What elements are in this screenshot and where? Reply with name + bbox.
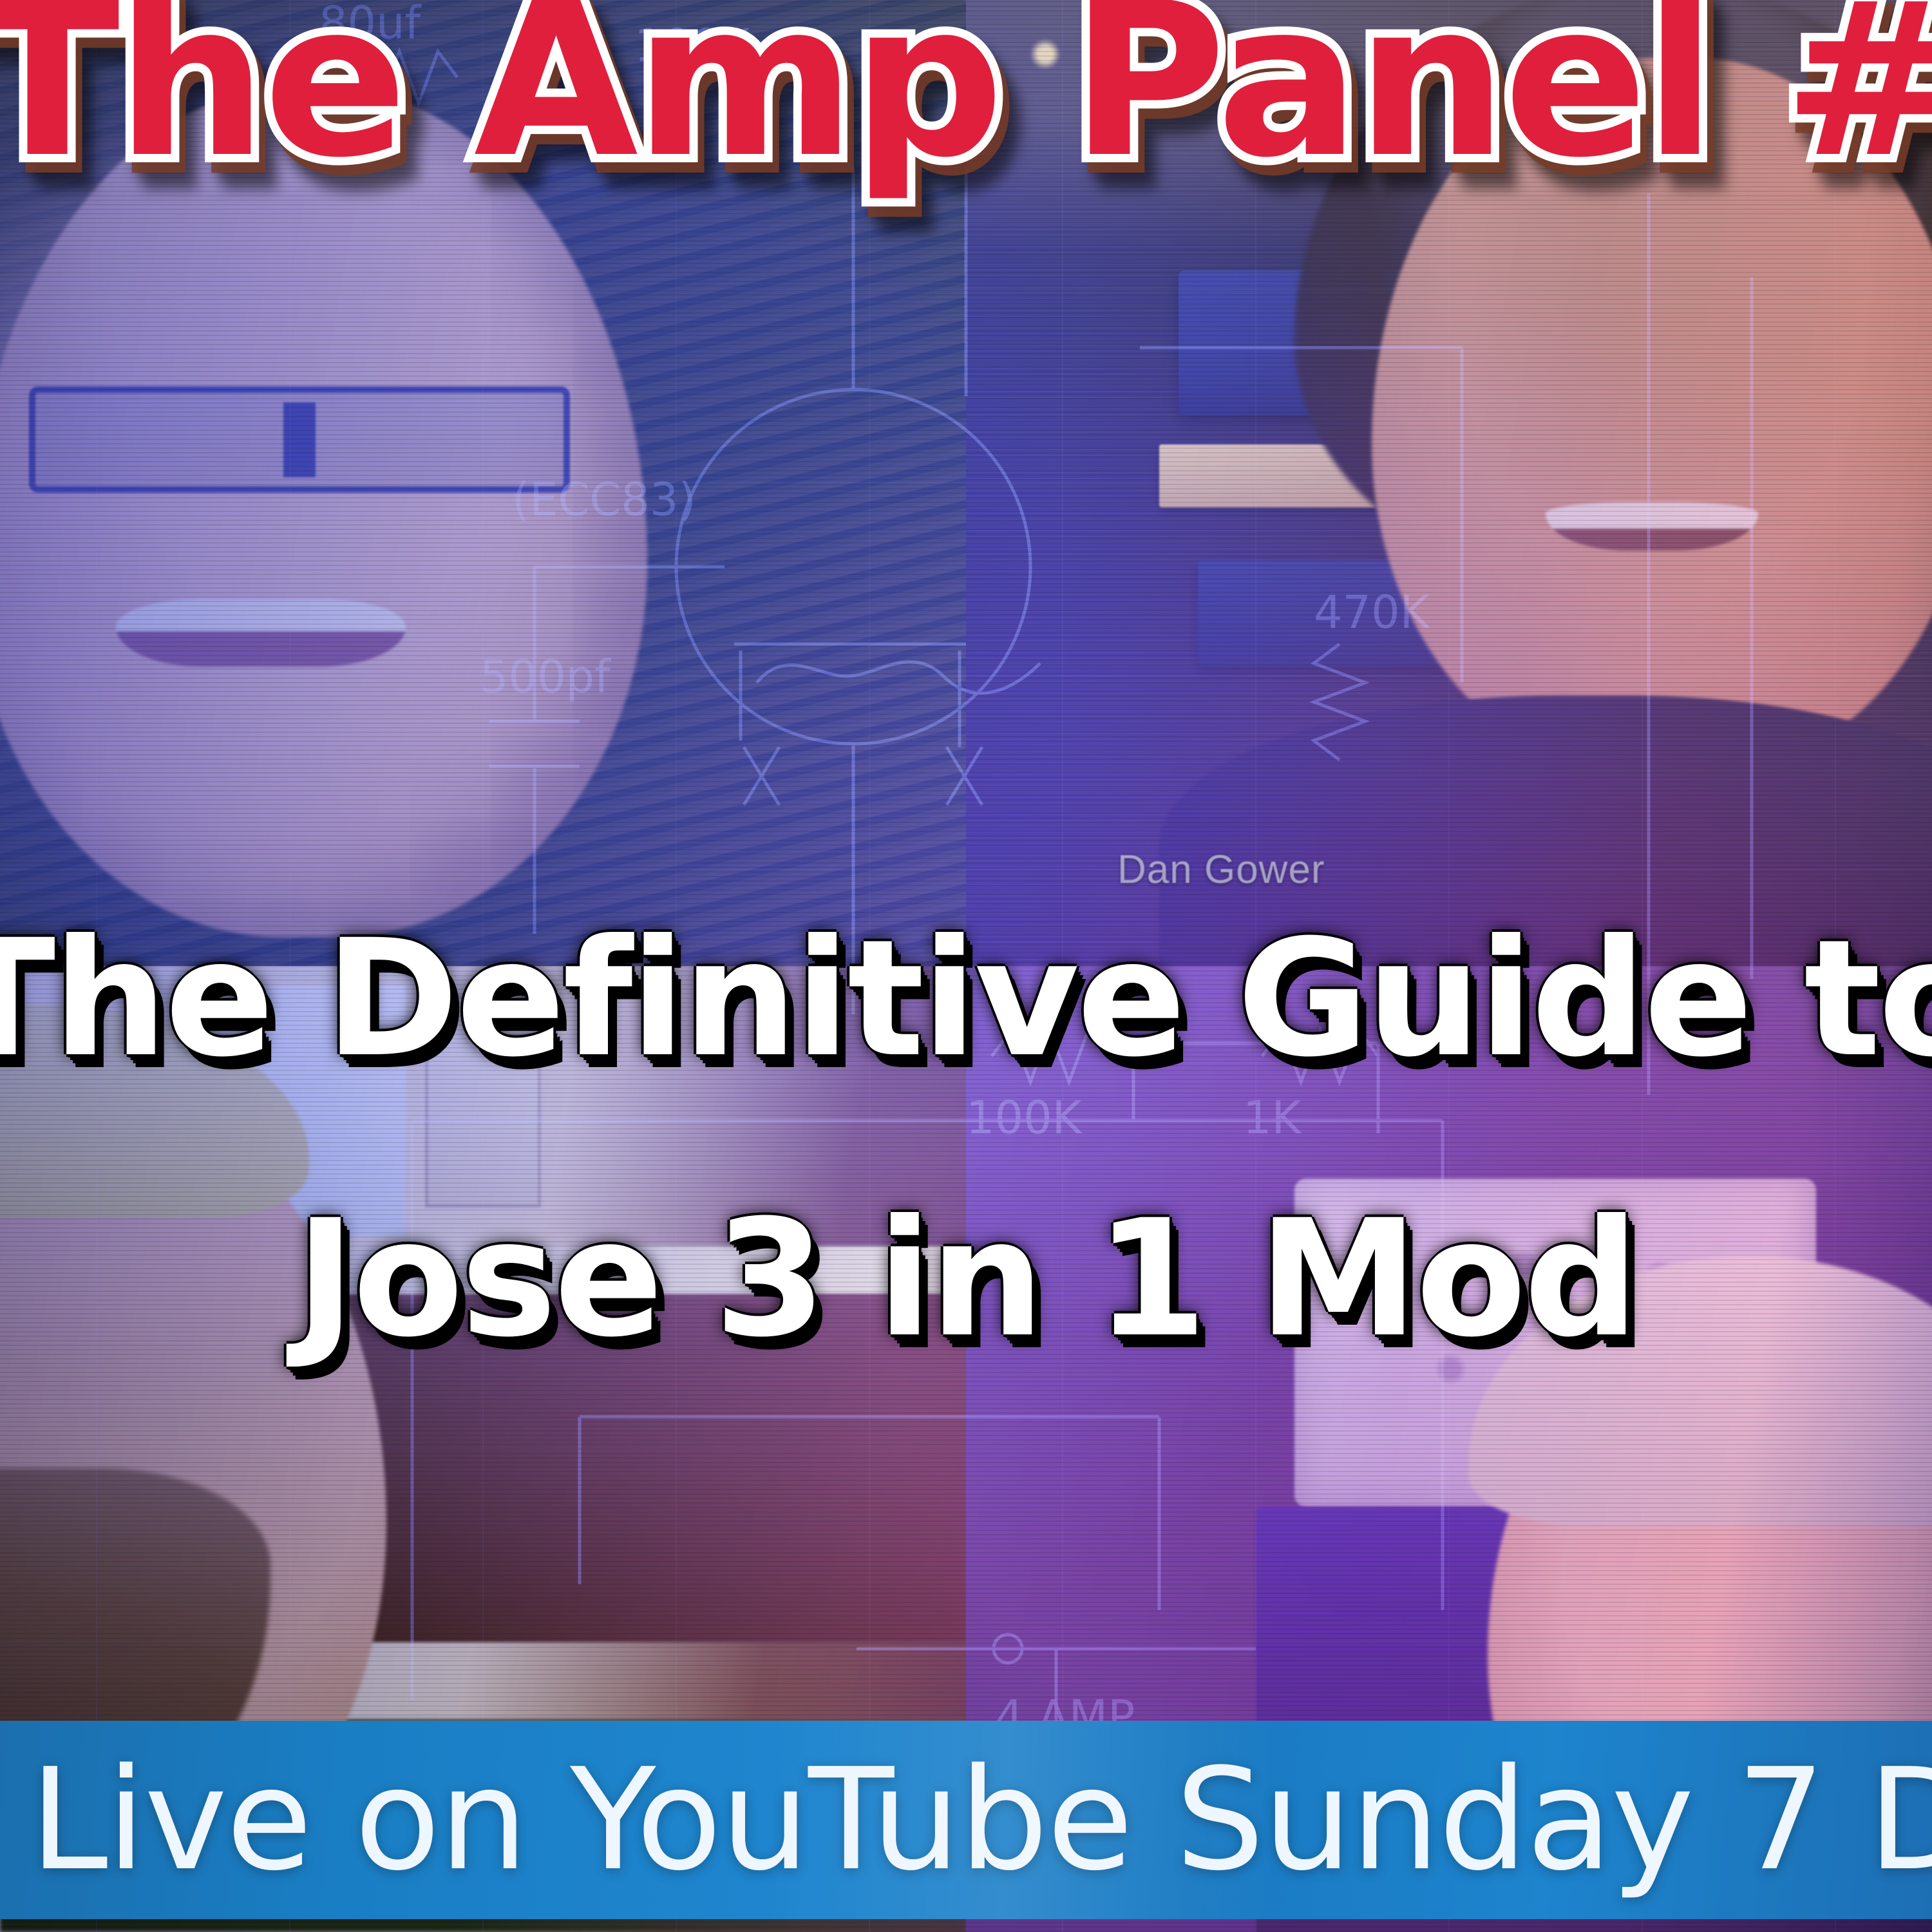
thumbnail-subtitle-line-1: The Definitive Guide to	[0, 905, 1932, 1092]
thumbnail-subtitle-line-2: Jose 3 in 1 Mod	[0, 1185, 1932, 1372]
participant-face	[0, 87, 647, 937]
participant-name-tag-dan: Dan Gower	[1117, 847, 1325, 893]
thumbnail-canvas: Marshall	[0, 0, 1932, 1932]
broadcast-banner: Live on YouTube Sunday 7 Dec	[0, 1721, 1932, 1919]
eyeglasses-icon	[29, 386, 570, 493]
thumbnail-headline: The Amp Panel #	[0, 0, 1932, 187]
broadcast-banner-text: Live on YouTube Sunday 7 Dec	[0, 1739, 1932, 1902]
participant-mouth	[116, 599, 406, 667]
